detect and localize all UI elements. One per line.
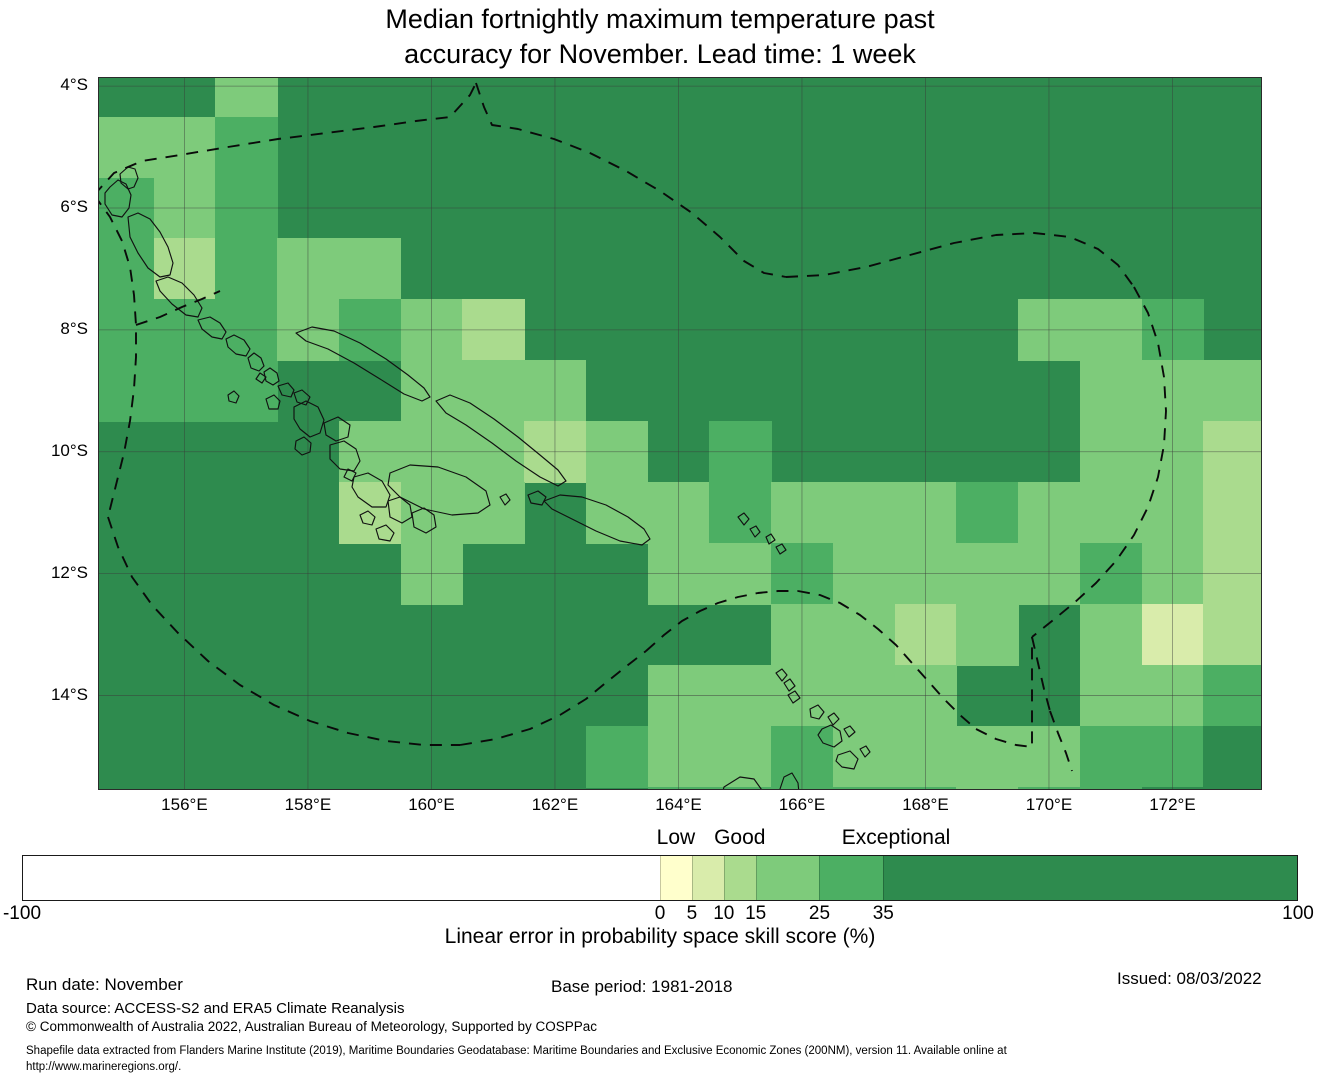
heatmap-cell xyxy=(1142,482,1204,544)
heatmap-cell xyxy=(215,178,277,240)
heatmap-cell xyxy=(339,299,401,361)
x-axis-tick-label: 170°E xyxy=(1026,795,1073,815)
heatmap-cell xyxy=(648,726,710,788)
figure-root: Median fortnightly maximum temperature p… xyxy=(0,0,1320,1080)
colorbar-quality-label: Good xyxy=(714,826,765,850)
heatmap-cell xyxy=(1080,543,1142,605)
heatmap-cell xyxy=(895,665,957,727)
heatmap-cell xyxy=(709,665,771,727)
colorbar-tick-label: -100 xyxy=(3,903,41,925)
colorbar-quality-label: Low xyxy=(657,826,696,850)
heatmap-cell xyxy=(98,360,154,422)
colorbar-tick-label: 15 xyxy=(745,903,766,925)
figure-title: Median fortnightly maximum temperature p… xyxy=(0,2,1320,72)
colorbar-tick-label: 35 xyxy=(873,903,894,925)
heatmap-cell xyxy=(401,421,463,483)
colorbar-qualitative-labels: LowGoodExceptional xyxy=(0,826,1320,852)
footer-copyright: © Commonwealth of Australia 2022, Austra… xyxy=(26,1019,597,1034)
heatmap-cell xyxy=(586,726,648,788)
heatmap-cell xyxy=(401,299,463,361)
heatmap-cell xyxy=(98,299,154,361)
y-axis-tick-label: 8°S xyxy=(60,319,88,339)
heatmap-cell xyxy=(833,604,895,666)
heatmap-cell xyxy=(339,482,401,544)
heatmap-cell xyxy=(586,482,648,544)
heatmap-cell xyxy=(956,482,1018,544)
y-axis-tick-label: 10°S xyxy=(51,441,88,461)
heatmap-cell xyxy=(648,543,710,605)
heatmap-cell xyxy=(1018,787,1080,790)
heatmap-cell xyxy=(709,421,771,483)
heatmap-cell xyxy=(895,482,957,544)
heatmap-cell xyxy=(1203,726,1262,788)
heatmap-cell xyxy=(154,117,216,179)
colorbar-tick-label: 10 xyxy=(713,903,734,925)
heatmap-cell xyxy=(895,604,957,666)
colorbar-segment xyxy=(660,856,692,900)
heatmap-cell xyxy=(1080,421,1142,483)
heatmap-cell xyxy=(339,238,401,300)
heatmap-cell xyxy=(215,299,277,361)
heatmap-cell xyxy=(956,726,1018,788)
heatmap-cell xyxy=(401,543,463,605)
footer-issued-date: Issued: 08/03/2022 xyxy=(1117,969,1262,989)
heatmap-cell xyxy=(833,665,895,727)
heatmap-cell xyxy=(215,117,277,179)
heatmap-cell xyxy=(215,77,277,117)
heatmap-cell xyxy=(895,543,957,605)
heatmap-cell xyxy=(833,726,895,788)
heatmap-cell xyxy=(1142,421,1204,483)
colorbar-tick-label: 5 xyxy=(687,903,698,925)
heatmap-cell xyxy=(709,726,771,788)
heatmap-cell xyxy=(771,726,833,788)
heatmap-cell xyxy=(401,360,463,422)
x-axis-tick-label: 162°E xyxy=(532,795,579,815)
heatmap-cell xyxy=(771,787,833,790)
heatmap-cell xyxy=(586,421,648,483)
heatmap-cell xyxy=(1080,482,1142,544)
footer-run-date: Run date: November xyxy=(26,975,183,995)
heatmap-cell xyxy=(648,482,710,544)
colorbar-segment xyxy=(724,856,756,900)
colorbar-tick-labels: -1000510152535100 xyxy=(0,903,1320,927)
heatmap-cell xyxy=(524,360,586,422)
colorbar-quality-label: Exceptional xyxy=(842,826,951,850)
figure-title-line-1: Median fortnightly maximum temperature p… xyxy=(0,2,1320,37)
heatmap-cell xyxy=(1142,665,1204,727)
y-axis-tick-label: 14°S xyxy=(51,685,88,705)
x-axis-tick-label: 166°E xyxy=(779,795,826,815)
colorbar-segment xyxy=(883,856,1297,900)
heatmap-cell xyxy=(1018,299,1080,361)
y-axis-tick-label: 4°S xyxy=(60,75,88,95)
colorbar-segment xyxy=(23,856,660,900)
colorbar-segment xyxy=(819,856,883,900)
x-axis-tick-label: 158°E xyxy=(285,795,332,815)
heatmap-cell xyxy=(1203,421,1262,483)
heatmap-cell xyxy=(462,482,524,544)
heatmap-cell xyxy=(1142,299,1204,361)
heatmap-cell xyxy=(277,238,339,300)
heatmap-cell xyxy=(1203,787,1262,790)
footer-data-source: Data source: ACCESS-S2 and ERA5 Climate … xyxy=(26,1000,405,1017)
heatmap-cell-layer xyxy=(98,77,1262,790)
heatmap-cell xyxy=(1080,604,1142,666)
heatmap-cell xyxy=(215,238,277,300)
heatmap-cell xyxy=(1203,604,1262,666)
x-axis-tick-label: 160°E xyxy=(408,795,455,815)
footer-shapefile-attribution: Shapefile data extracted from Flanders M… xyxy=(26,1043,1007,1075)
heatmap-cell xyxy=(771,604,833,666)
y-axis-tick-label: 12°S xyxy=(51,563,88,583)
heatmap-cell xyxy=(1203,665,1262,727)
heatmap-cell xyxy=(1080,299,1142,361)
heatmap-cell xyxy=(895,726,957,788)
heatmap-cell xyxy=(709,787,771,790)
heatmap-cell xyxy=(1203,543,1262,605)
heatmap-cell xyxy=(1142,726,1204,788)
heatmap-cell xyxy=(956,787,1018,790)
heatmap-cell xyxy=(833,482,895,544)
heatmap-cell xyxy=(1018,543,1080,605)
colorbar-segment xyxy=(692,856,724,900)
heatmap-cell xyxy=(154,238,216,300)
colorbar[interactable] xyxy=(22,855,1298,901)
heatmap-cell xyxy=(277,299,339,361)
colorbar-tick-label: 0 xyxy=(655,903,666,925)
footer-base-period: Base period: 1981-2018 xyxy=(551,977,732,997)
heatmap-cell xyxy=(895,787,957,790)
colorbar-tick-label: 100 xyxy=(1282,903,1314,925)
heatmap-cell xyxy=(462,360,524,422)
heatmap-cell xyxy=(709,482,771,544)
heatmap-cell xyxy=(1080,360,1142,422)
heatmap-cell xyxy=(1080,665,1142,727)
heatmap-cell xyxy=(215,360,277,422)
heatmap-cell xyxy=(648,787,710,790)
heatmap-cell xyxy=(462,421,524,483)
heatmap-cell xyxy=(1142,543,1204,605)
colorbar-tick-label: 25 xyxy=(809,903,830,925)
heatmap-cell xyxy=(339,421,401,483)
heatmap-cell xyxy=(154,178,216,240)
heatmap-cell xyxy=(771,665,833,727)
heatmap-cell xyxy=(1080,726,1142,788)
heatmap-cell xyxy=(833,543,895,605)
heatmap-cell xyxy=(1203,360,1262,422)
heatmap-cell xyxy=(1080,787,1142,790)
heatmap-cell xyxy=(98,117,154,179)
heatmap-cell xyxy=(956,604,1018,666)
heatmap-cell xyxy=(1142,787,1204,790)
heatmap-cell xyxy=(154,299,216,361)
heatmap-cell xyxy=(833,787,895,790)
heatmap-cell xyxy=(524,421,586,483)
heatmap-cell xyxy=(98,178,154,240)
heatmap-cell xyxy=(1142,360,1204,422)
heatmap-cell xyxy=(401,482,463,544)
colorbar-segment xyxy=(756,856,820,900)
y-axis-tick-label: 6°S xyxy=(60,197,88,217)
heatmap-cell xyxy=(709,543,771,605)
heatmap-cell xyxy=(462,299,524,361)
heatmap-cell xyxy=(771,543,833,605)
heatmap-cell xyxy=(1203,482,1262,544)
heatmap-cell xyxy=(648,665,710,727)
heatmap-cell xyxy=(98,238,154,300)
heatmap-cell xyxy=(1142,604,1204,666)
heatmap-cell xyxy=(154,360,216,422)
colorbar-axis-label: Linear error in probability space skill … xyxy=(0,925,1320,949)
footer-shapefile-line-1: Shapefile data extracted from Flanders M… xyxy=(26,1043,1007,1059)
heatmap-cell xyxy=(1018,482,1080,544)
heatmap-cell xyxy=(1018,726,1080,788)
x-axis-tick-label: 168°E xyxy=(902,795,949,815)
x-axis-tick-label: 156°E xyxy=(161,795,208,815)
x-axis-tick-label: 164°E xyxy=(655,795,702,815)
x-axis-tick-label: 172°E xyxy=(1149,795,1196,815)
figure-title-line-2: accuracy for November. Lead time: 1 week xyxy=(0,37,1320,72)
footer-shapefile-line-2: http://www.marineregions.org/. xyxy=(26,1059,1007,1075)
heatmap-cell xyxy=(956,543,1018,605)
heatmap-cell xyxy=(771,482,833,544)
map-plot-area[interactable] xyxy=(98,77,1262,790)
